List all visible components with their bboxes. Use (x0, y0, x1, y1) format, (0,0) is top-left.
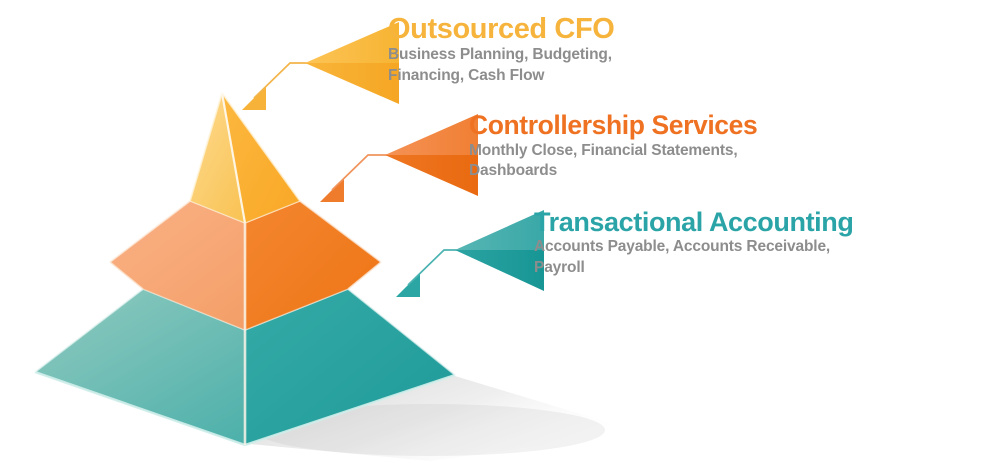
connector-outsourced-cfo[interactable] (242, 22, 399, 110)
callout-desc-line-2: Dashboards (469, 161, 757, 182)
pyramid-layer-outsourced-cfo[interactable] (190, 93, 300, 223)
callout-title-outsourced-cfo: Outsourced CFO (388, 14, 614, 44)
callout-desc-line-1: Accounts Payable, Accounts Receivable, (534, 237, 853, 258)
connector-flag-top-transactional-accounting (455, 210, 544, 250)
diagram-canvas: Outsourced CFO Business Planning, Budget… (0, 0, 1000, 465)
callout-transactional-accounting: Transactional Accounting Accounts Payabl… (534, 208, 853, 279)
callout-desc-line-2: Payroll (534, 258, 853, 279)
callout-description-transactional-accounting: Accounts Payable, Accounts Receivable, P… (534, 237, 853, 278)
connector-flag-top-controllership-services (385, 114, 478, 155)
callout-desc-line-1: Business Planning, Budgeting, (388, 45, 614, 66)
connector-flag-bottom-outsourced-cfo (305, 63, 399, 104)
connector-flag-top-outsourced-cfo (305, 22, 399, 63)
callout-description-outsourced-cfo: Business Planning, Budgeting, Financing,… (388, 45, 614, 86)
connector-flag-bottom-controllership-services (385, 155, 478, 196)
callout-title-transactional-accounting: Transactional Accounting (534, 208, 853, 236)
connector-transactional-accounting[interactable] (396, 210, 544, 297)
connector-flag-bottom-transactional-accounting (455, 250, 544, 291)
callout-outsourced-cfo: Outsourced CFO Business Planning, Budget… (388, 14, 614, 87)
callout-desc-line-1: Monthly Close, Financial Statements, (469, 141, 757, 162)
callout-title-controllership-services: Controllership Services (469, 112, 757, 140)
callout-controllership-services: Controllership Services Monthly Close, F… (469, 112, 757, 182)
connector-controllership-services[interactable] (320, 114, 478, 202)
callout-description-controllership-services: Monthly Close, Financial Statements, Das… (469, 141, 757, 182)
callout-desc-line-2: Financing, Cash Flow (388, 66, 614, 87)
